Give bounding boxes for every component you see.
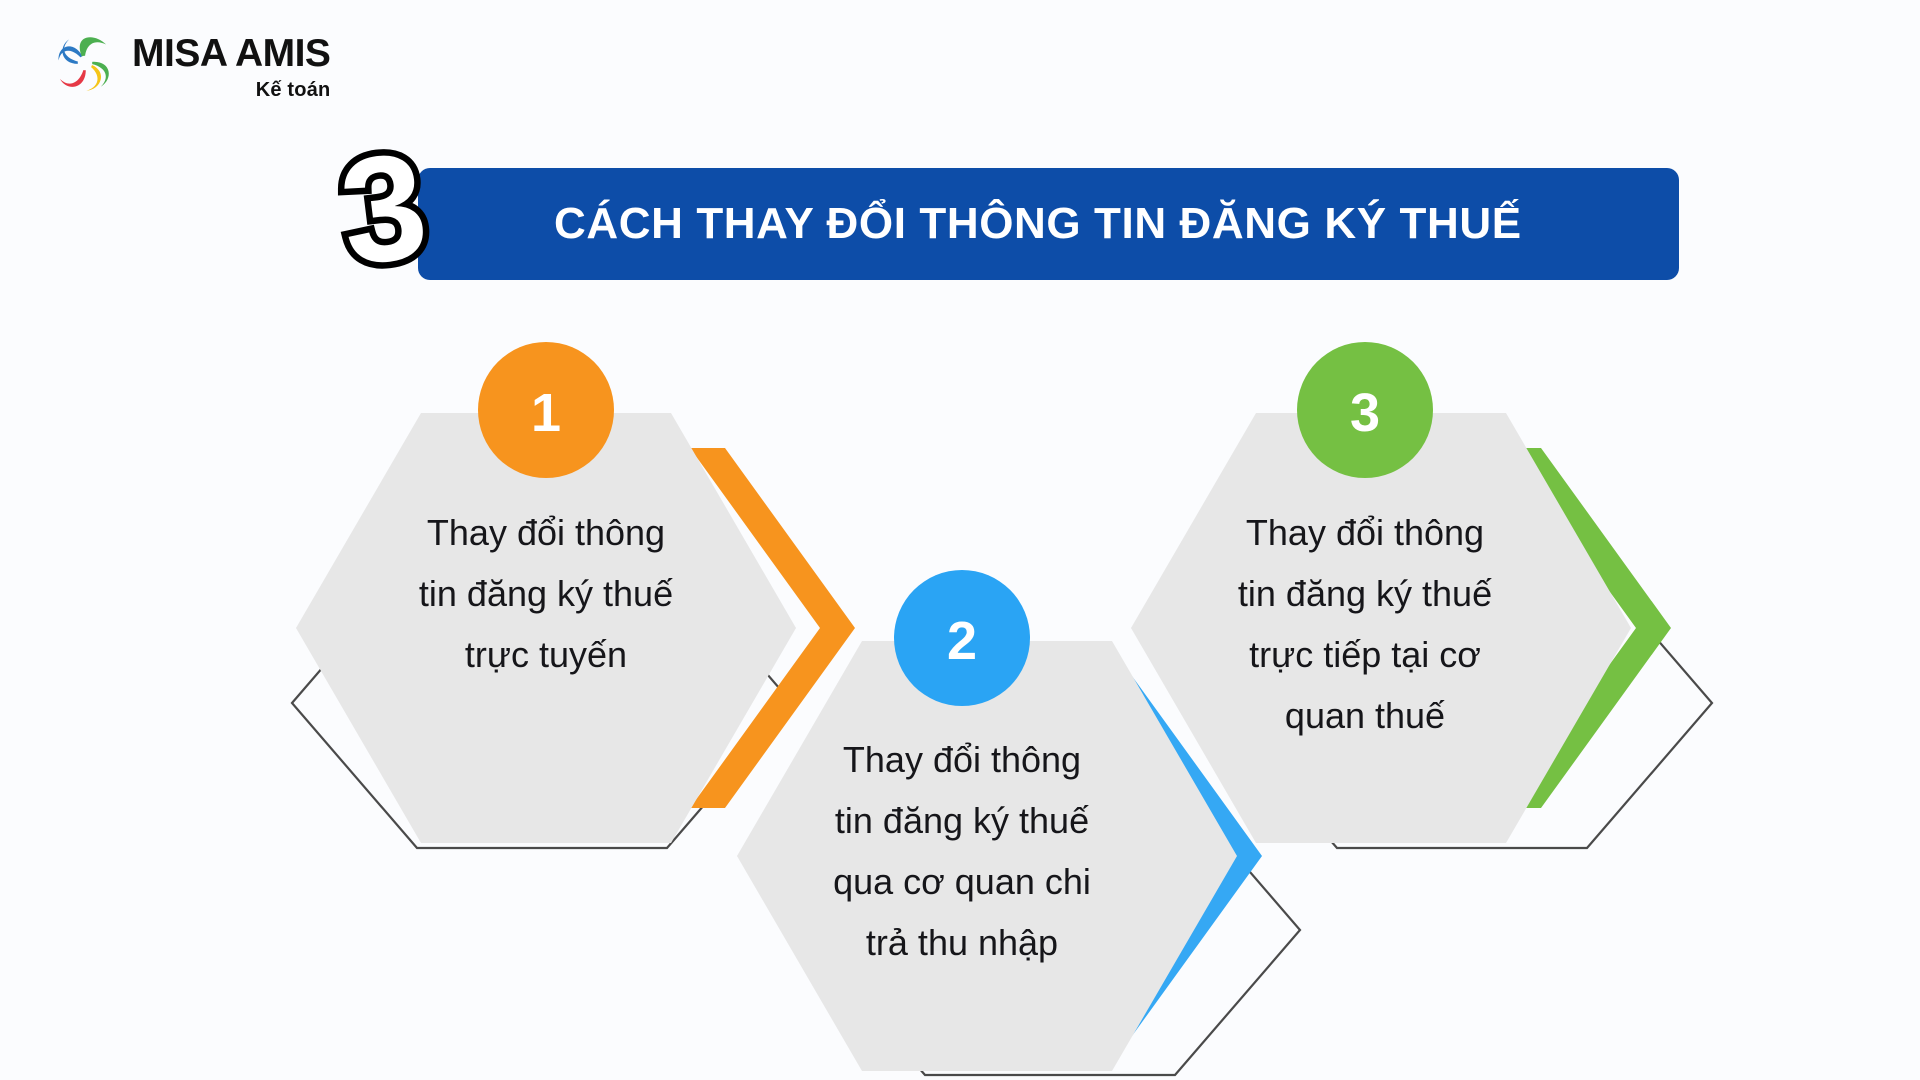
- header-number-badge: 3: [330, 148, 480, 298]
- step-2-label-line-2: tin đăng ký thuế: [835, 800, 1089, 841]
- step-3-label-line-2: tin đăng ký thuế: [1238, 573, 1492, 614]
- step-3-label-line-4: quan thuế: [1285, 695, 1445, 736]
- step-3-label-line-1: Thay đổi thông: [1246, 512, 1484, 553]
- step-1-label-line-3: trực tuyến: [465, 634, 627, 675]
- step-2-label-line-1: Thay đổi thông: [843, 739, 1081, 780]
- step-1-label-line-1: Thay đổi thông: [427, 512, 665, 553]
- step-1-label-line-2: tin đăng ký thuế: [419, 573, 673, 614]
- step-3-label-line-3: trực tiếp tại cơ: [1249, 634, 1481, 675]
- step-2-label-line-4: trả thu nhập: [866, 922, 1058, 963]
- steps-diagram: 1 Thay đổi thông tin đăng ký thuế trực t…: [0, 0, 1920, 1080]
- step-1-badge-number: 1: [531, 383, 561, 443]
- step-2-label-line-3: qua cơ quan chi: [833, 861, 1091, 902]
- step-card-1[interactable]: 1 Thay đổi thông tin đăng ký thuế trực t…: [296, 342, 855, 843]
- step-3-badge-number: 3: [1350, 383, 1380, 443]
- header-number-text: 3: [332, 148, 435, 297]
- step-2-badge-number: 2: [947, 611, 977, 671]
- step-2-hexagon: [737, 641, 1237, 1071]
- step-card-3[interactable]: 3 Thay đổi thông tin đăng ký thuế trực t…: [1131, 342, 1671, 843]
